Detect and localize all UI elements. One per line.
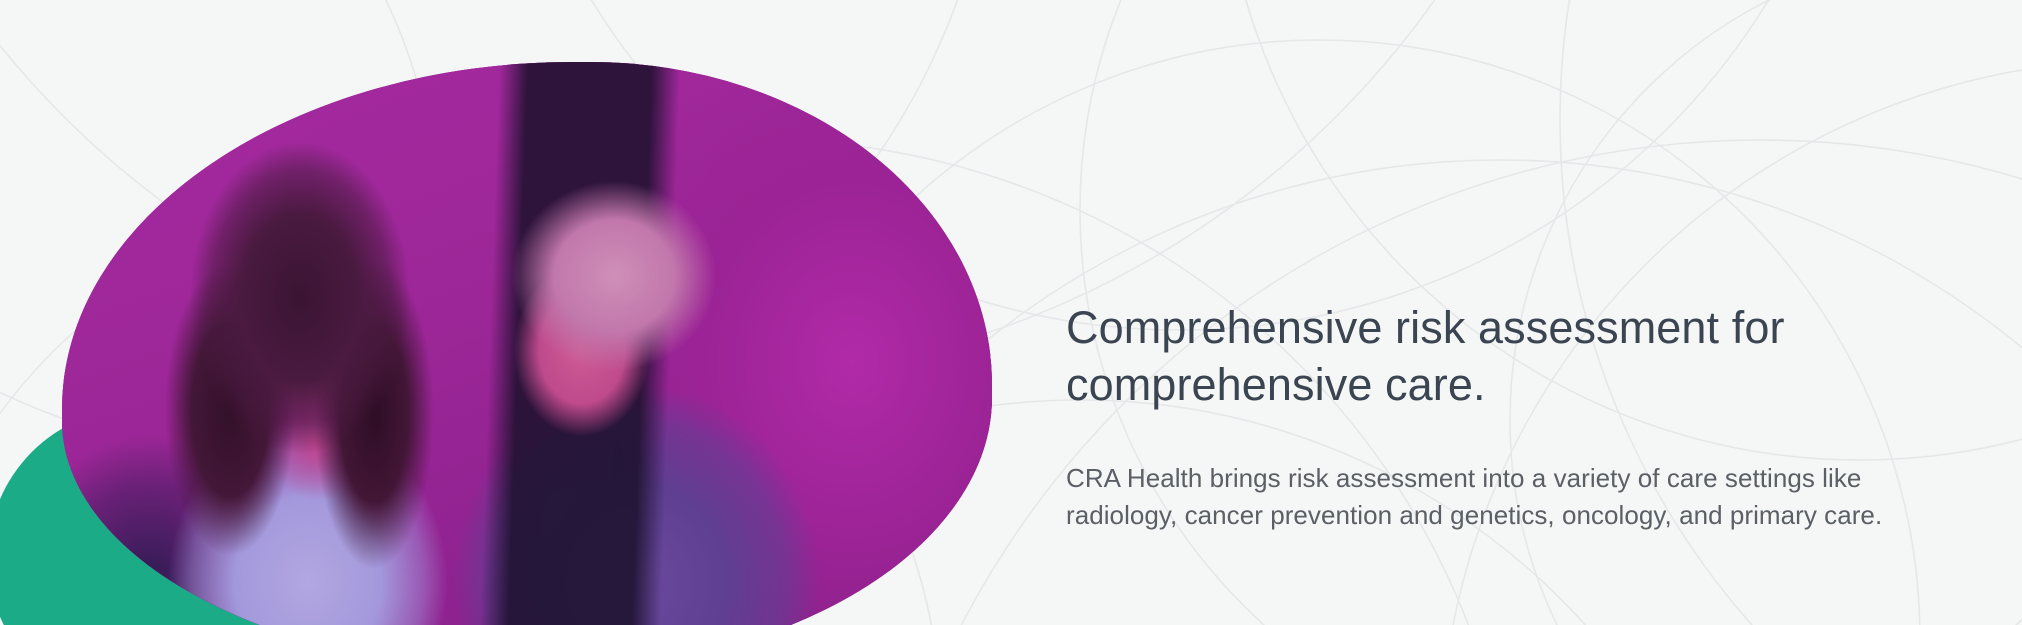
duotone-clinician-photo [62,62,992,625]
hero-section: Comprehensive risk assessment for compre… [0,0,2022,625]
hero-media-column [0,0,1040,625]
hero-text-column: Comprehensive risk assessment for compre… [1066,0,1946,625]
hero-body-text: CRA Health brings risk assessment into a… [1066,460,1896,534]
blob-clip-mask [62,62,992,625]
hero-heading: Comprehensive risk assessment for compre… [1066,300,1826,413]
hero-image-blob [62,62,992,625]
